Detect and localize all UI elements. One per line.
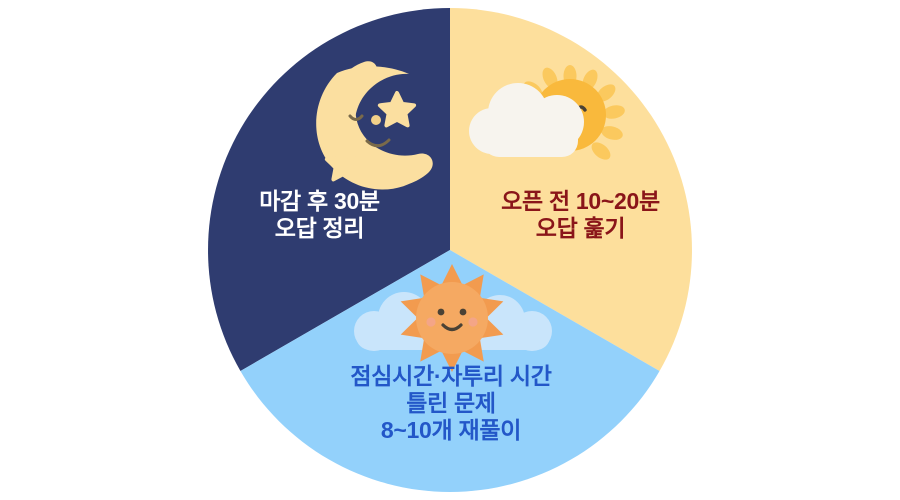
three-segment-pie-chart	[0, 0, 900, 500]
sun-disc-icon	[416, 282, 488, 354]
infographic-canvas: 마감 후 30분 오답 정리 오픈 전 10~20분 오답 훑기 점심시간·자투…	[0, 0, 900, 500]
